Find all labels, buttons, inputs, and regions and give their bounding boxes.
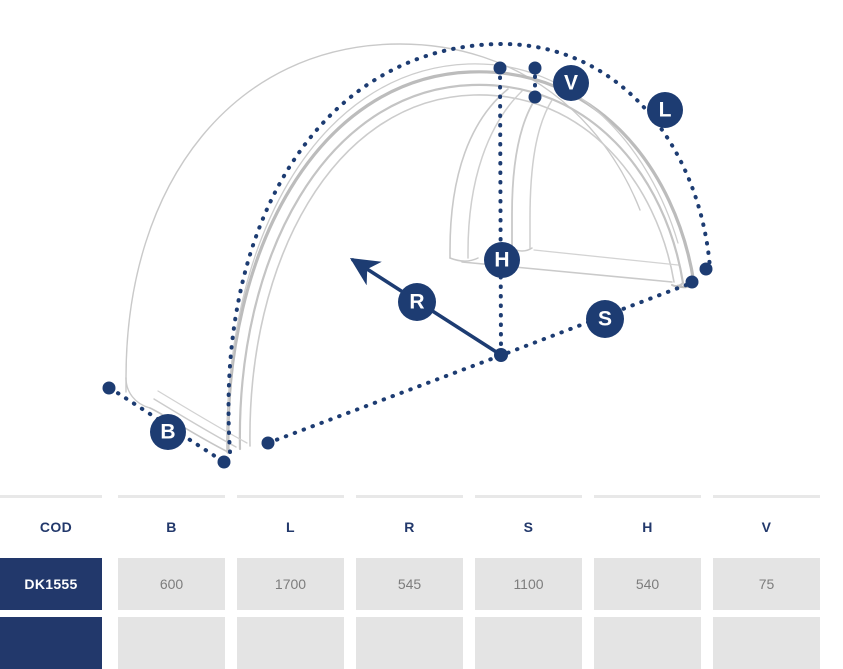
table-cell-r[interactable]: 545 bbox=[350, 558, 469, 610]
dimension-badge-v-label: V bbox=[564, 72, 578, 95]
table-header-cell-h: H bbox=[588, 495, 707, 558]
table-header-label-b: B bbox=[166, 519, 177, 535]
table-header-label-l: L bbox=[286, 519, 295, 535]
table-cell-v-value: 75 bbox=[759, 576, 775, 592]
dimension-badge-h-label: H bbox=[494, 249, 509, 272]
table-cell-r-value: 545 bbox=[398, 576, 421, 592]
dimension-badge-s: S bbox=[586, 300, 624, 338]
value-box: 600 bbox=[118, 558, 225, 610]
table-cell-code-next[interactable] bbox=[0, 617, 112, 669]
value-box: 1100 bbox=[475, 558, 582, 610]
table-cell-code[interactable]: DK1555 bbox=[0, 558, 112, 610]
table-cell-s[interactable]: 1100 bbox=[469, 558, 588, 610]
table-row[interactable]: DK1555 600 1700 545 1100 bbox=[0, 558, 843, 610]
dimension-badge-h: H bbox=[484, 242, 520, 278]
value-box bbox=[475, 617, 582, 669]
table-row-next-partial[interactable] bbox=[0, 617, 843, 669]
table-header-label-r: R bbox=[404, 519, 415, 535]
code-badge: DK1555 bbox=[0, 558, 102, 610]
table-header-cell-s: S bbox=[469, 495, 588, 558]
dimension-badge-r-label: R bbox=[409, 291, 424, 314]
dimension-badge-b-label: B bbox=[160, 421, 175, 444]
dimension-endpoint-l-end bbox=[700, 263, 713, 276]
dimension-endpoint-h-top bbox=[494, 62, 507, 75]
dimension-line-l bbox=[229, 44, 710, 452]
table-cell-l-value: 1700 bbox=[275, 576, 306, 592]
table-cell-v[interactable]: 75 bbox=[707, 558, 826, 610]
dimension-badge-v: V bbox=[553, 65, 589, 101]
dimension-badge-l-label: L bbox=[659, 99, 672, 122]
value-box: 75 bbox=[713, 558, 820, 610]
dimension-endpoint-v-bottom bbox=[529, 91, 542, 104]
header-rule bbox=[356, 495, 463, 498]
header-rule bbox=[475, 495, 582, 498]
code-badge bbox=[0, 617, 102, 669]
header-rule bbox=[0, 495, 102, 498]
table-cell-l[interactable]: 1700 bbox=[231, 558, 350, 610]
table-header-cell-cod: COD bbox=[0, 495, 112, 558]
table-cell-h[interactable]: 540 bbox=[588, 558, 707, 610]
value-box bbox=[713, 617, 820, 669]
table-cell-s-value: 1100 bbox=[513, 576, 543, 592]
value-box bbox=[594, 617, 701, 669]
table-cell-b-value: 600 bbox=[160, 576, 183, 592]
dimension-line-h bbox=[500, 68, 501, 355]
value-box: 1700 bbox=[237, 558, 344, 610]
table-cell-b[interactable]: 600 bbox=[112, 558, 231, 610]
table-header-cell-b: B bbox=[112, 495, 231, 558]
dimension-badge-l: L bbox=[647, 92, 683, 128]
dimension-badge-b: B bbox=[150, 414, 186, 450]
table-header-label-cod: COD bbox=[40, 519, 72, 535]
header-rule bbox=[237, 495, 344, 498]
mudguard-diagram: B L V H R S bbox=[0, 0, 843, 495]
table-cell-next[interactable] bbox=[350, 617, 469, 669]
value-box: 540 bbox=[594, 558, 701, 610]
table-cell-next[interactable] bbox=[112, 617, 231, 669]
table-header-cell-l: L bbox=[231, 495, 350, 558]
table-cell-next[interactable] bbox=[707, 617, 826, 669]
dimension-endpoint-s-end bbox=[686, 276, 699, 289]
value-box bbox=[237, 617, 344, 669]
table-header-label-v: V bbox=[762, 519, 772, 535]
value-box bbox=[356, 617, 463, 669]
table-cell-next[interactable] bbox=[231, 617, 350, 669]
table-cell-next[interactable] bbox=[469, 617, 588, 669]
dimension-endpoint-v-top bbox=[529, 62, 542, 75]
table-header-cell-r: R bbox=[350, 495, 469, 558]
table-cell-next[interactable] bbox=[588, 617, 707, 669]
mudguard-drawing-svg: B L V H R S bbox=[0, 0, 843, 495]
header-rule bbox=[594, 495, 701, 498]
table-header-label-s: S bbox=[524, 519, 534, 535]
value-box: 545 bbox=[356, 558, 463, 610]
dimension-endpoint-b-end bbox=[218, 456, 231, 469]
table-header-label-h: H bbox=[642, 519, 653, 535]
dimension-endpoint-b-start bbox=[103, 382, 116, 395]
header-rule bbox=[118, 495, 225, 498]
page-root: B L V H R S bbox=[0, 0, 843, 627]
header-rule bbox=[713, 495, 820, 498]
dimension-table: COD B L R S H bbox=[0, 495, 843, 669]
dimension-line-s bbox=[268, 282, 694, 443]
value-box bbox=[118, 617, 225, 669]
table-cell-code-value: DK1555 bbox=[24, 576, 77, 592]
dimension-badge-r: R bbox=[398, 283, 436, 321]
dimension-badge-s-label: S bbox=[598, 308, 612, 331]
table-header-cell-v: V bbox=[707, 495, 826, 558]
table-row-gap bbox=[0, 610, 843, 617]
table-cell-h-value: 540 bbox=[636, 576, 659, 592]
table-header-row: COD B L R S H bbox=[0, 495, 843, 558]
